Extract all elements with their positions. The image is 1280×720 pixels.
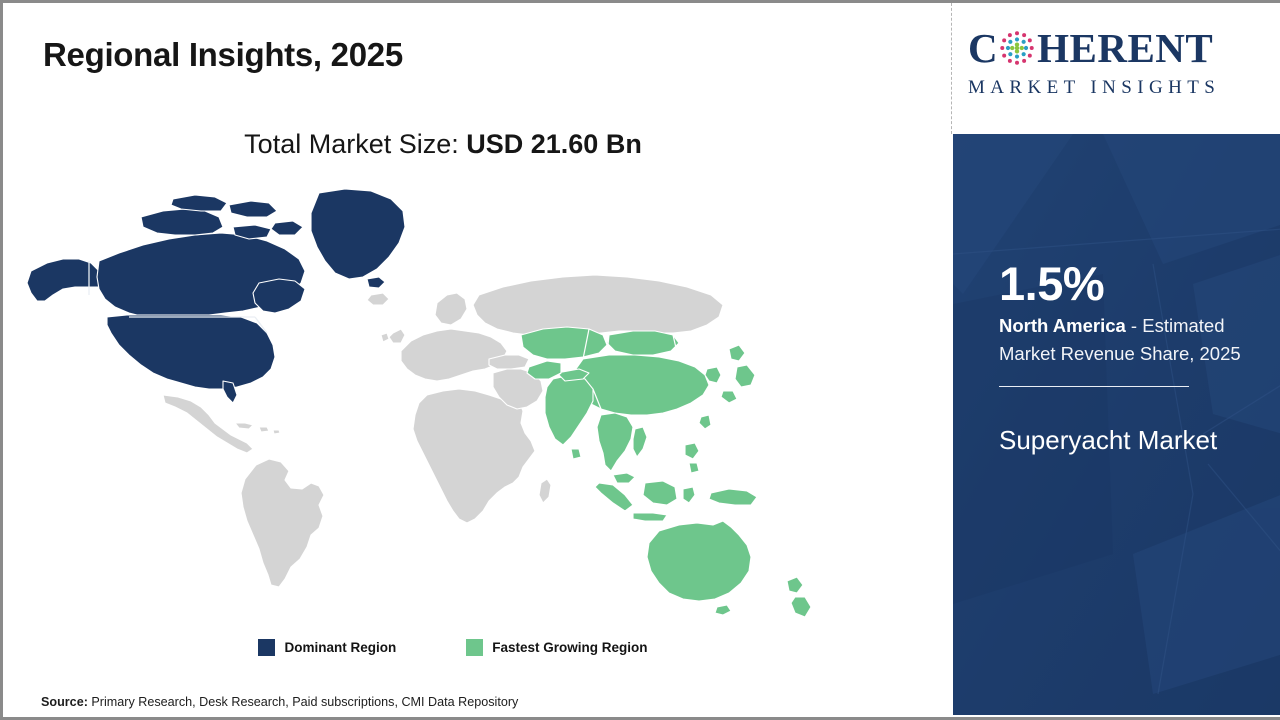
panel-divider [999,386,1189,388]
legend-label-fastest-growing-region: Fastest Growing Region [492,640,647,655]
map-legend: Dominant Region Fastest Growing Region [3,639,903,656]
stat-value: 1.5% [999,259,1269,308]
stat-description: North America - Estimated Market Revenue… [999,312,1261,368]
market-size-label: Total Market Size: [244,129,466,159]
legend-item-dominant-region: Dominant Region [258,639,396,656]
legend-item-fastest-growing-region: Fastest Growing Region [466,639,647,656]
source-label: Source: [41,695,88,709]
legend-label-dominant-region: Dominant Region [284,640,396,655]
brand-logo: C [968,25,1268,115]
logo-wordmark: C [968,25,1268,71]
source-note: Source: Primary Research, Desk Research,… [41,695,518,709]
globe-dots-icon [998,29,1036,67]
page-title: Regional Insights, 2025 [43,36,403,74]
infographic-slide: Regional Insights, 2025 Total Market Siz… [0,0,1280,720]
logo-tagline: MARKET INSIGHTS [968,77,1268,99]
logo-word-herent: HERENT [1037,28,1213,69]
map-region-north-america [27,189,405,403]
map-region-asia-pacific [521,327,811,617]
source-text: Primary Research, Desk Research, Paid su… [88,695,518,709]
panel-content: 1.5% North America - Estimated Market Re… [999,259,1269,460]
stat-region-name: North America [999,315,1126,336]
world-map-container [23,183,903,623]
left-content-pane: Regional Insights, 2025 Total Market Siz… [3,3,951,720]
world-map [23,183,903,623]
legend-swatch-green [466,639,483,656]
market-size-value: USD 21.60 Bn [466,129,642,159]
total-market-size: Total Market Size: USD 21.60 Bn [3,129,883,160]
vertical-dashed-divider [951,3,952,134]
market-name: Superyacht Market [999,421,1249,459]
logo-letter-c: C [968,28,998,69]
legend-swatch-navy [258,639,275,656]
highlight-panel: 1.5% North America - Estimated Market Re… [953,134,1280,715]
